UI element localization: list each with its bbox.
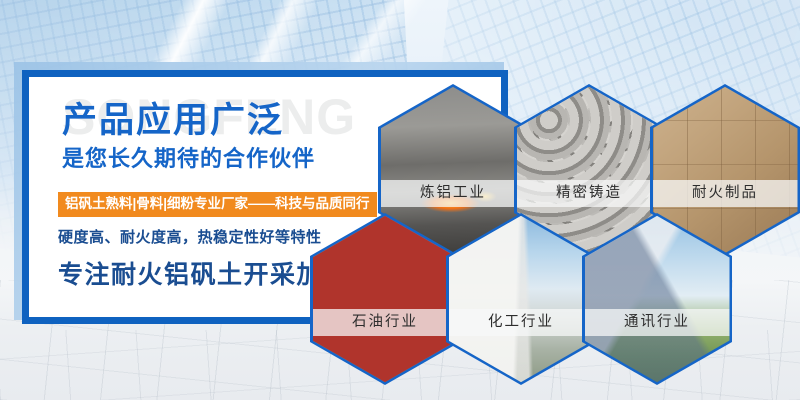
chemical-plant-photo xyxy=(449,216,594,382)
hex-label: 石油行业 xyxy=(313,309,458,336)
feature-text: 硬度高、耐火度高，热稳定性好等特性 xyxy=(58,230,322,245)
hex-label: 耐火制品 xyxy=(653,180,798,207)
hex-clip: 通讯行业 xyxy=(585,216,730,382)
telecom-tower-photo xyxy=(585,216,730,382)
hex-border: 石油行业 xyxy=(310,213,460,385)
hex-label: 炼铝工业 xyxy=(381,180,526,207)
hex-tile-telecom-industry[interactable]: 通讯行业 xyxy=(582,213,732,385)
hex-tile-chemical-industry[interactable]: 化工行业 xyxy=(446,213,596,385)
hex-clip: 石油行业 xyxy=(313,216,458,382)
oil-pumpjack-photo xyxy=(313,216,458,382)
promotional-banner: SONGFENG 产品应用广泛 是您长久期待的合作伙伴 铝矾土熟料|骨料|细粉专… xyxy=(0,0,800,400)
hex-label: 通讯行业 xyxy=(585,309,730,336)
page-title: 产品应用广泛 xyxy=(62,103,284,138)
hex-tile-oil-industry[interactable]: 石油行业 xyxy=(310,213,460,385)
focus-text: 专注耐火铝矾土开采加工 xyxy=(58,263,350,288)
hex-border: 通讯行业 xyxy=(582,213,732,385)
hex-clip: 化工行业 xyxy=(449,216,594,382)
page-subtitle: 是您长久期待的合作伙伴 xyxy=(62,148,315,170)
hex-border: 化工行业 xyxy=(446,213,596,385)
hex-label: 化工行业 xyxy=(449,309,594,336)
hex-label: 精密铸造 xyxy=(517,180,662,207)
